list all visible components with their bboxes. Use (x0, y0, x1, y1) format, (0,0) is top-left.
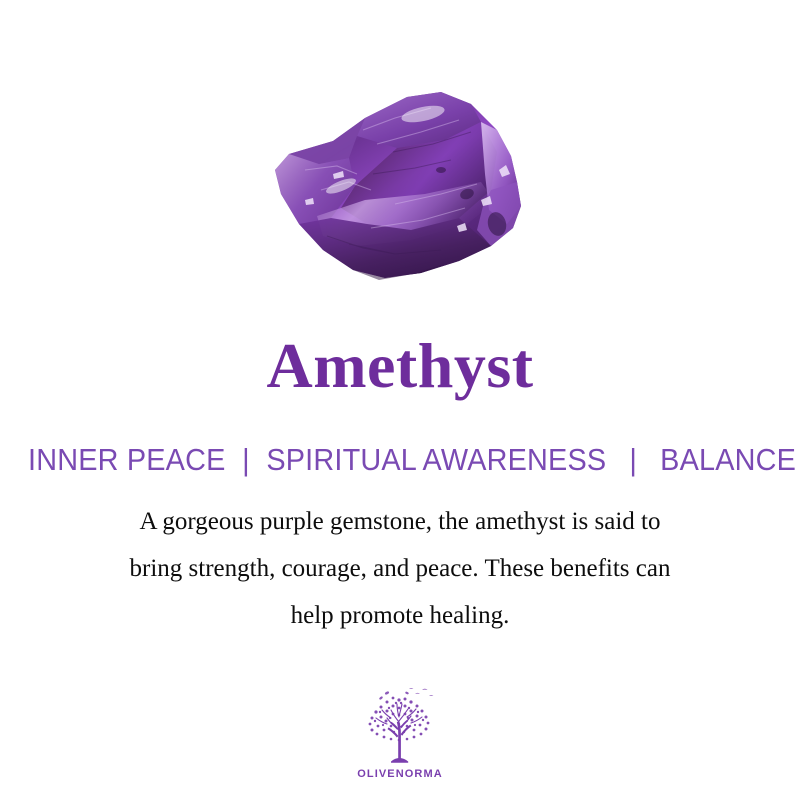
keyword-separator: | (615, 440, 652, 480)
brand-name: OLIVENORMA (357, 768, 443, 780)
keyword-balance: BALANCE (660, 442, 796, 477)
description-text: A gorgeous purple gemstone, the amethyst… (60, 498, 740, 639)
keyword-separator: | (234, 440, 258, 480)
keyword-spiritual-awareness: SPIRITUAL AWARENESS (266, 442, 606, 477)
description-line: A gorgeous purple gemstone, the amethyst… (60, 498, 740, 545)
page-title: Amethyst (0, 332, 800, 399)
amethyst-crystal-icon (245, 78, 555, 303)
keyword-line: INNER PEACE | SPIRITUAL AWARENESS | BALA… (28, 440, 772, 480)
description-line: bring strength, courage, and peace. Thes… (60, 545, 740, 592)
amethyst-infographic-card: Amethyst INNER PEACE | SPIRITUAL AWARENE… (0, 0, 800, 800)
keyword-inner-peace: INNER PEACE (28, 442, 225, 477)
amethyst-hero-image (0, 78, 800, 308)
description-line: help promote healing. (60, 592, 740, 639)
olive-tree-icon (357, 684, 443, 766)
brand-logo: OLIVENORMA (0, 684, 800, 780)
bird-glyphs (409, 688, 433, 696)
